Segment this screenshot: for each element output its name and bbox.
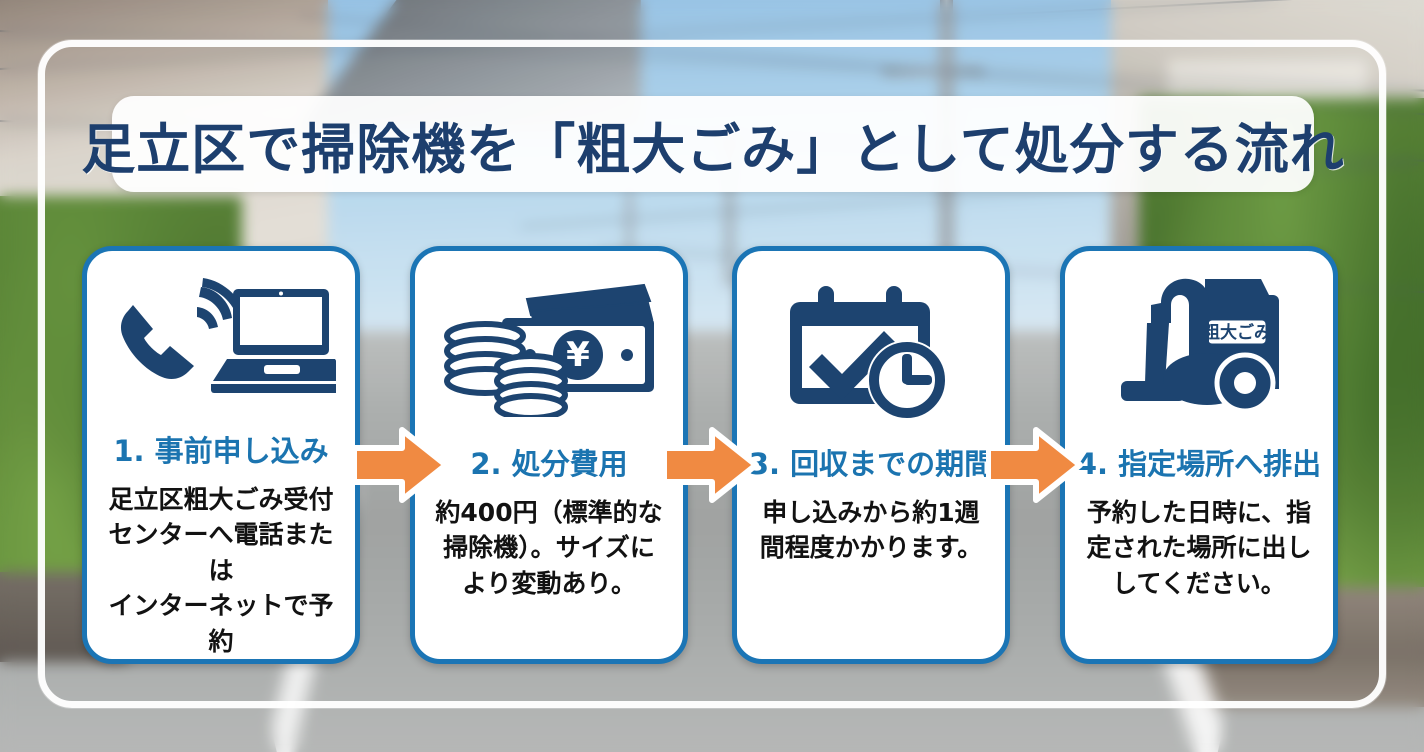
title-banner: 足立区で掃除機を「粗大ごみ」として処分する流れ bbox=[112, 96, 1314, 192]
arrow-step1-to-step2 bbox=[352, 424, 450, 506]
step-card-1-body: 足立区粗大ごみ受付 センターへ電話または インターネットで予約 bbox=[87, 482, 355, 660]
step-card-4-title: 4. 指定場所へ排出 bbox=[1077, 449, 1321, 481]
step-card-2-title: 2. 処分費用 bbox=[470, 449, 627, 481]
svg-text:¥: ¥ bbox=[566, 335, 590, 375]
page-title: 足立区で掃除機を「粗大ごみ」として処分する流れ bbox=[81, 105, 1344, 184]
step-card-4-body: 予約した日時に、指 定された場所に出し してください。 bbox=[1072, 495, 1325, 602]
infographic-canvas: 足立区で掃除機を「粗大ごみ」として処分する流れ bbox=[0, 0, 1424, 752]
arrow-step2-to-step3 bbox=[662, 424, 760, 506]
calendar-clock-icon bbox=[737, 251, 1005, 447]
step-card-1[interactable]: 1. 事前申し込み 足立区粗大ごみ受付 センターへ電話または インターネットで予… bbox=[82, 246, 360, 664]
step-card-3[interactable]: 3. 回収までの期間 申し込みから約1週 間程度かかります。 bbox=[732, 246, 1010, 664]
step-card-3-body: 申し込みから約1週 間程度かかります。 bbox=[746, 495, 997, 566]
vacuum-cleaner-icon: 粗大ごみ bbox=[1065, 251, 1333, 447]
step-card-1-title: 1. 事前申し込み bbox=[113, 436, 328, 468]
phone-laptop-icon bbox=[87, 251, 355, 434]
step-card-2[interactable]: ¥ 2. 処分費用 bbox=[410, 246, 688, 664]
money-coins-icon: ¥ bbox=[415, 251, 683, 447]
step-card-3-title: 3. 回収までの期間 bbox=[749, 449, 993, 481]
arrow-step3-to-step4 bbox=[986, 424, 1084, 506]
step-card-4[interactable]: 粗大ごみ 4. 指定場所へ排出 予約した日時に、指 定された場所に出し してくだ… bbox=[1060, 246, 1338, 664]
vacuum-label-text: 粗大ごみ bbox=[1203, 322, 1271, 343]
step-card-2-body: 約400円（標準的な 掃除機）。サイズに より変動あり。 bbox=[421, 495, 676, 602]
